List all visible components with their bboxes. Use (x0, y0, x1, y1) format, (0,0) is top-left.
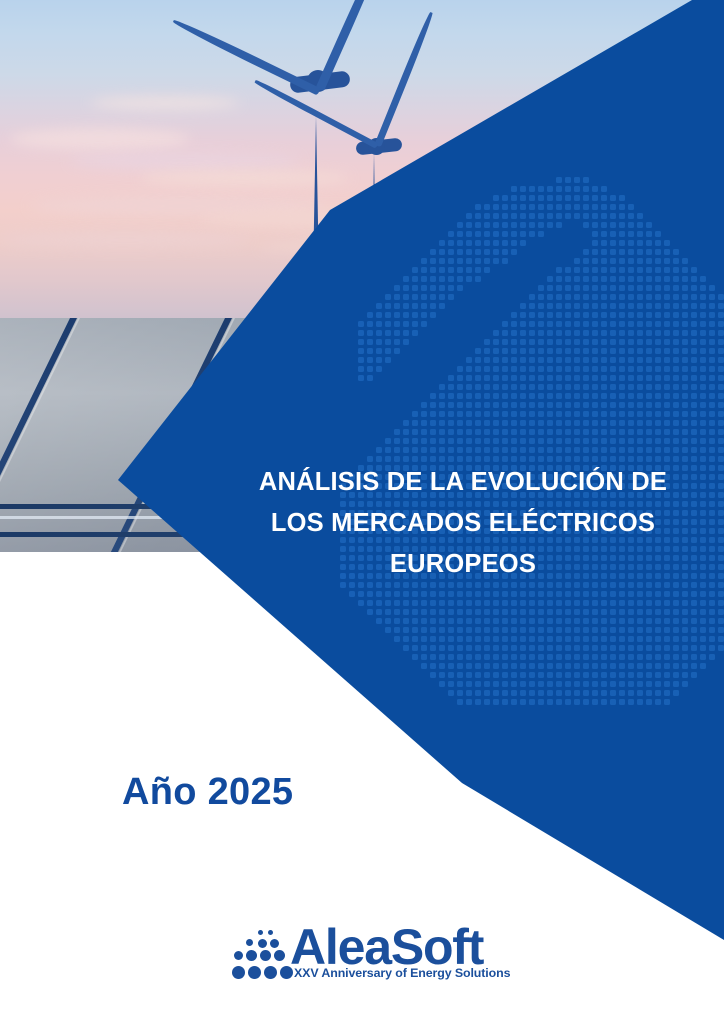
cloud (0, 232, 250, 248)
title-line-1: ANÁLISIS DE LA EVOLUCIÓN DE (232, 462, 694, 503)
page-title: ANÁLISIS DE LA EVOLUCIÓN DE LOS MERCADOS… (232, 462, 694, 585)
title-line-3: EUROPEOS (232, 544, 694, 585)
logo-tagline: XXV Anniversary of Energy Solutions (294, 966, 510, 980)
title-line-2: LOS MERCADOS ELÉCTRICOS (232, 503, 694, 544)
cloud (10, 128, 190, 150)
cover-page: ANÁLISIS DE LA EVOLUCIÓN DE LOS MERCADOS… (0, 0, 724, 1024)
aleasoft-logo: AleaSoft XXV Anniversary of Energy Solut… (232, 922, 512, 992)
cloud (90, 96, 240, 110)
year-label: Año 2025 (122, 771, 293, 814)
cloud (70, 152, 300, 170)
logo-dot-matrix-icon (232, 930, 294, 986)
dotted-europe-map (340, 168, 724, 708)
